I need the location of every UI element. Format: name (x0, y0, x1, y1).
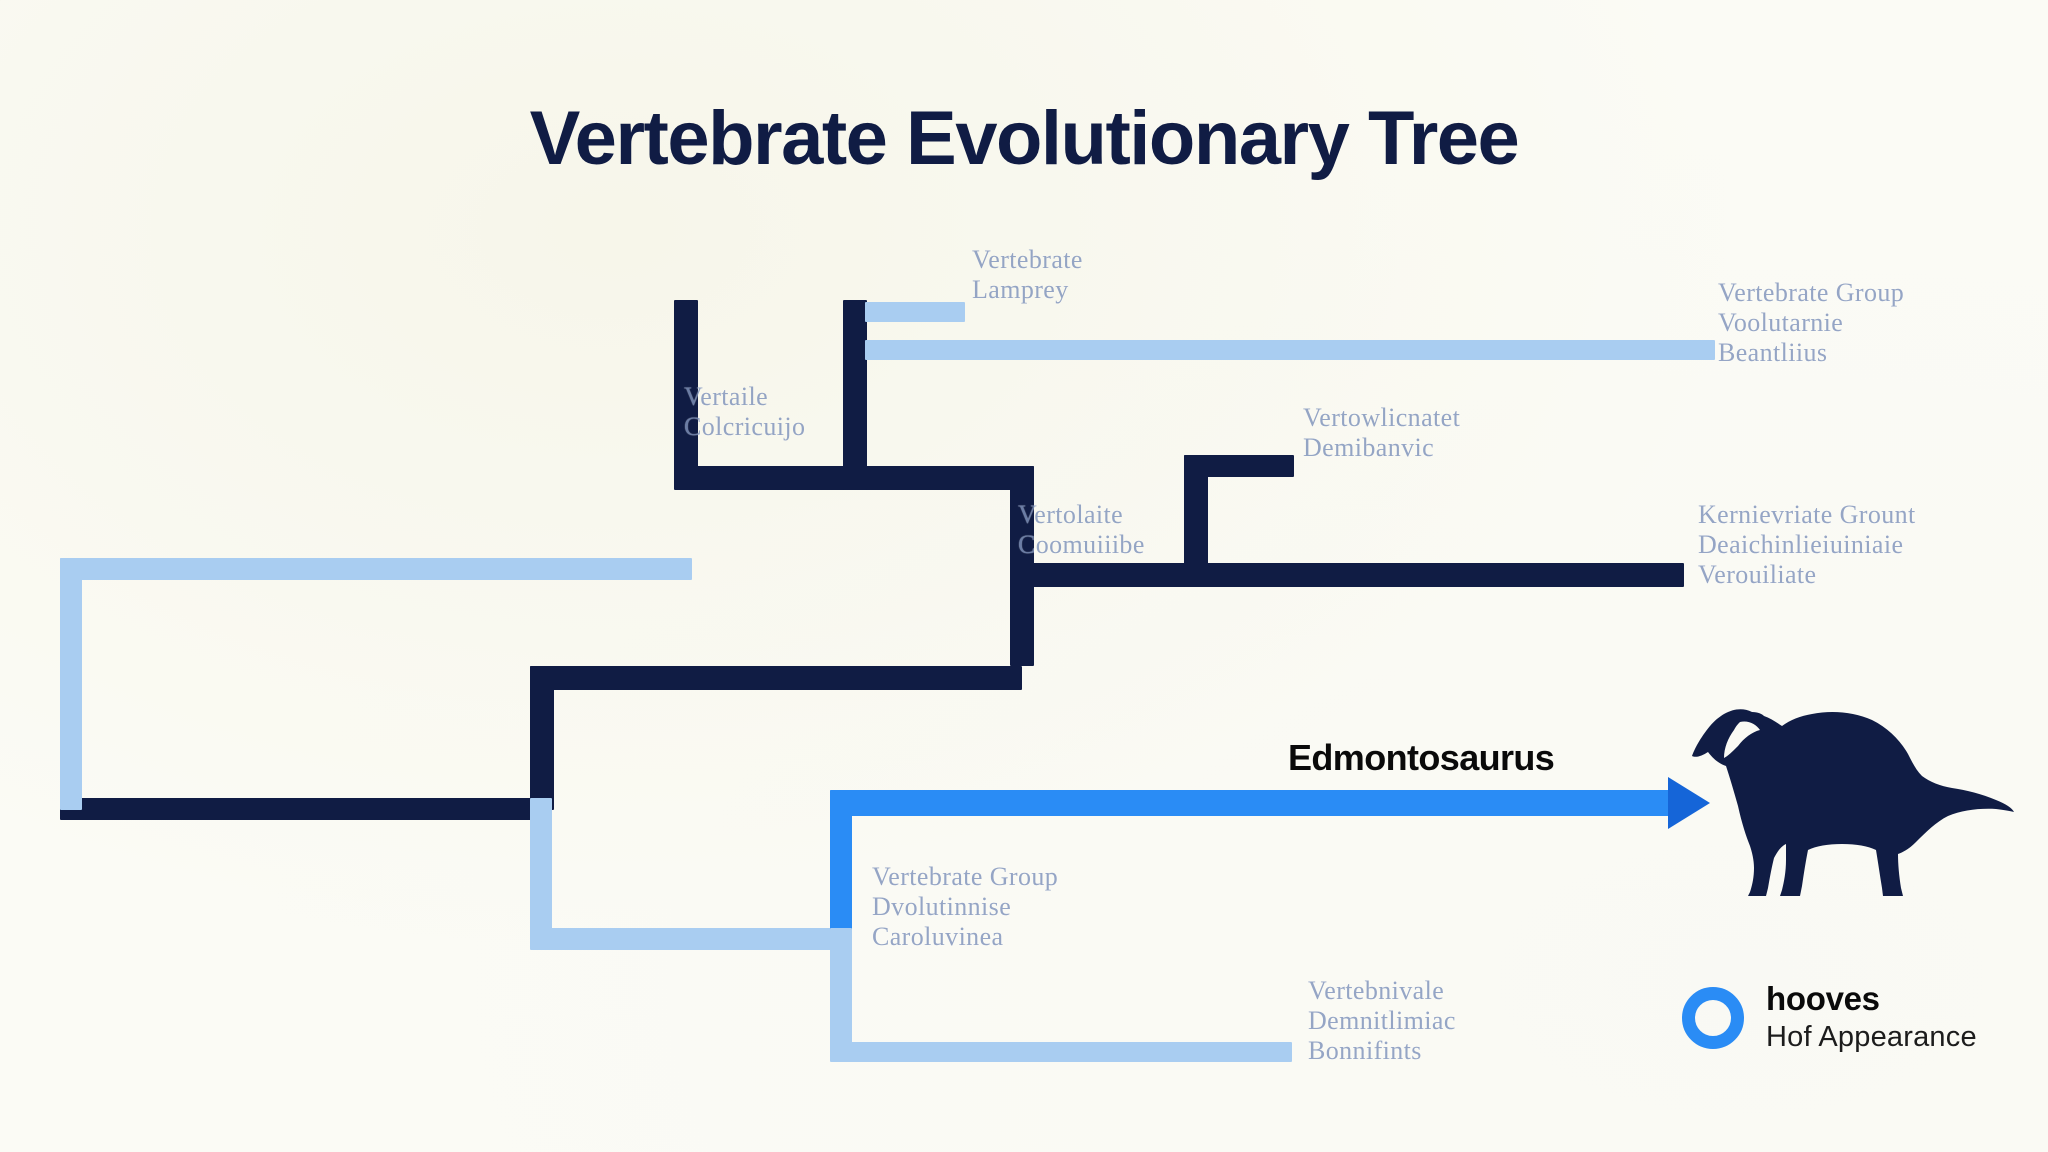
taxon-label-edmontosaurus: Edmontosaurus (1288, 737, 1554, 779)
node-label-group-evolution: Vertebrate Group Dvolutinnise Caroluvine… (872, 862, 1058, 952)
legend: hooves Hof Appearance (1682, 982, 1977, 1054)
hadrosaur-silhouette (1690, 700, 2040, 930)
branch-cornuliibe-horizontal (1010, 563, 1196, 587)
page-title: Vertebrate Evolutionary Tree (0, 95, 2048, 182)
legend-subtitle: Hof Appearance (1766, 1021, 1977, 1054)
branch-lower-horizontal (530, 666, 1022, 690)
tip-lamprey-upper (865, 302, 965, 322)
node-label-lamprey: Vertebrate Lamprey (972, 245, 1083, 305)
node-label-colouring: Vertaile Colcricuijo (684, 382, 805, 442)
branch-lamprey-vertical (843, 300, 867, 490)
branch-root-horizontal (60, 798, 540, 820)
tip-label-top-right: Vertebrate Group Voolutarnie Beantliius (1718, 278, 1904, 368)
branch-group-horizontal (530, 928, 842, 950)
branch-group-vertical (530, 798, 552, 948)
tip-far-right-branch (1184, 563, 1684, 587)
tip-mid-right-branch (1184, 455, 1294, 477)
tip-bottom-branch (830, 1042, 1292, 1062)
legend-text-block: hooves Hof Appearance (1766, 982, 1977, 1054)
node-label-demibanvic: Vertowlicnatet Demibanvic (1303, 403, 1460, 463)
diagram-canvas: Vertebrate Evolutionary Tree Vertebrate … (0, 0, 2048, 1152)
tip-top-right-branch (865, 340, 1715, 360)
tip-label-mid-right: Kernievriate Grount Deaichinlieiuiniaie … (1698, 500, 1916, 590)
ring-icon (1682, 987, 1744, 1049)
branch-bottom-vertical (830, 928, 852, 1060)
branch-edmontosaurus (830, 790, 1672, 816)
legend-title: hooves (1766, 982, 1977, 1017)
branch-upper-light-horizontal (60, 558, 692, 580)
branch-root-vertical-light (60, 558, 82, 810)
node-label-cornuliibe: Vertolaite Coomuiiibe (1018, 500, 1145, 560)
node-label-demidumiac: Vertebnivale Demnitlimiac Bonnifints (1308, 976, 1456, 1066)
